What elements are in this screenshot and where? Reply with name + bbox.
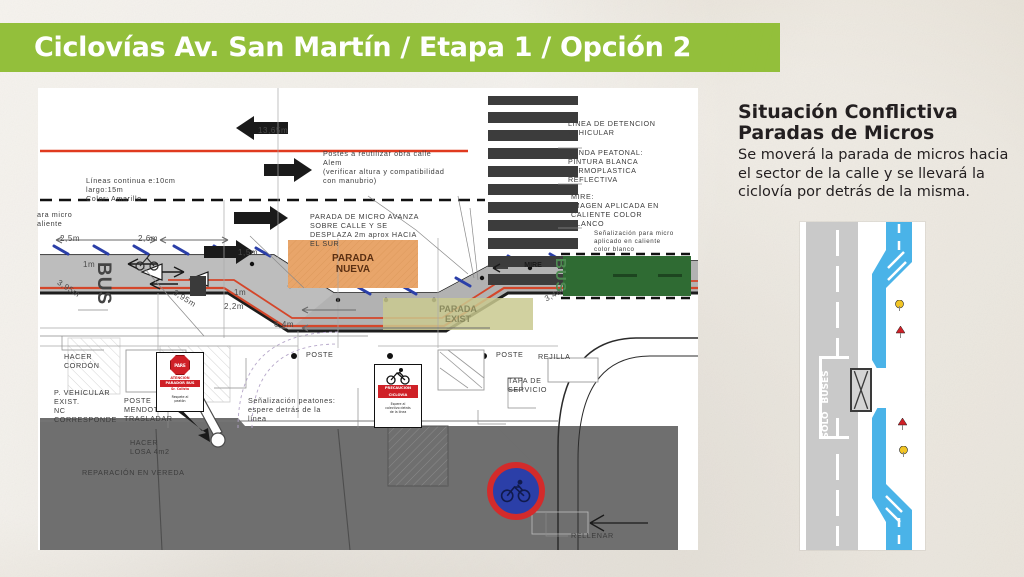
inset-bus-stop-platform [850, 368, 872, 412]
note-poste-1: POSTE [306, 350, 333, 359]
note-postes-reutilizar: Postes a reutilizar obra calle Alem (ver… [323, 149, 444, 185]
dim-6-4m: 6,4m [274, 320, 294, 329]
inset-triangle-sign-top [896, 326, 905, 338]
inset-lane-dash [836, 338, 839, 356]
page-title: Ciclovías Av. San Martín / Etapa 1 / Opc… [34, 30, 734, 66]
sign-line-respete: Respete al peatón [160, 395, 200, 403]
note-hacer-losa: HACER LOSA 4m2 [130, 438, 170, 456]
sign-line-sr-colista: Sr. Colista [160, 387, 200, 391]
inset-crosswalk-bar [891, 368, 895, 408]
sidebar-title: Situación Conflictiva Paradas de Micros [738, 102, 1013, 144]
inset-crosswalk-bar [875, 368, 879, 408]
sidebar-title-line2: Paradas de Micros [738, 123, 1013, 144]
sign-band-ciclovia: CICLOVIA [378, 392, 418, 399]
bicycle-icon [500, 479, 532, 503]
inset-crosswalk-bar [907, 368, 911, 408]
inset-lane-dash [836, 266, 839, 292]
dim-13-65m: 13,65m [258, 126, 288, 135]
sign-bicycle-circle [487, 462, 545, 520]
label-bus-green-word: BUS [552, 258, 569, 293]
note-rejilla: REJILLA [538, 352, 571, 361]
note-senda-peatonal: SENDA PEATONAL: PINTURA BLANCA TERMOPLAS… [568, 148, 643, 184]
inset-lane-dash [836, 302, 839, 328]
dim-2-2m: 2,2m [224, 302, 244, 311]
note-p-vehicular: P. VEHICULAR EXIST. NC CORRESPONDE [54, 388, 117, 424]
note-rellenar: RELLENAR [571, 531, 614, 540]
sign-sub-espere: Espere al colectivo detrás de la línea [378, 402, 418, 414]
dim-2-5m: 2,5m [60, 234, 80, 243]
label-bus-lane-word: BUS [92, 262, 114, 305]
note-para-micro: ara micro aliente [37, 210, 72, 228]
sidebar-title-line1: Situación Conflictiva [738, 102, 1013, 123]
dim-1-5m: 1,5m [238, 248, 258, 257]
note-senalizacion-micro: Señalización para micro aplicado en cali… [594, 230, 674, 254]
note-hacer-cordon: HACER CORDÓN [64, 352, 100, 370]
inset-warning-sign-bottom [899, 446, 908, 457]
inset-lane-dash [836, 454, 839, 480]
sign-parador-bus: PARE ATENCION PARADOR BUS Sr. Colista Re… [156, 352, 204, 412]
inset-lane-dash [836, 230, 839, 256]
inset-triangle-sign-bottom [898, 418, 907, 430]
note-lineas-continua: Líneas continua e:10cm largo:15m Color: … [86, 176, 176, 203]
note-reparacion-vereda: REPARACIÓN EN VEREDA [82, 468, 185, 477]
note-poste-2: POSTE [496, 350, 523, 359]
label-crosswalk-mire: MIRE [512, 262, 554, 269]
inset-crosswalk-bar [915, 368, 919, 408]
inset-lane-dash [836, 418, 839, 436]
label-parada-exist: PARADA EXIST [383, 298, 533, 330]
dim-1m-b: 1m [234, 288, 246, 297]
cyclist-icon [386, 367, 410, 385]
inset-bay-mark [819, 356, 849, 359]
inset-warning-sign-top [895, 300, 904, 311]
note-senalizacion-peatones: Señalización peatones: espere detrás de … [248, 396, 336, 423]
sign-line-parador-bus: PARADOR BUS [160, 380, 200, 387]
inset-lane-dash [836, 526, 839, 546]
sign-band-precaucion: PRECAUCION [378, 385, 418, 392]
drawing-sheet: 13,65m 2,5m 2,6m 1,5m 1m 1m 3,95m 3,95m … [38, 88, 698, 550]
sign-precaucion-ciclovia: PRECAUCION CICLOVIA Espere al colectivo … [374, 364, 422, 428]
octagon-pare: PARE [170, 355, 190, 375]
note-tapa-servicio: TAPA DE SERVICIO [508, 376, 547, 394]
sidebar-body-text: Se moverá la parada de micros hacia el s… [738, 146, 1010, 202]
label-parada-nueva: PARADA NUEVA [288, 240, 418, 288]
inset-crosswalk-bar [899, 368, 903, 408]
inset-situation-map: BUSES SOLO [800, 222, 925, 550]
inset-lane-dash [836, 490, 839, 516]
inset-bus-label-2: SOLO [821, 405, 831, 445]
note-mire: MIRE: IMAGEN APLICADA EN CALIENTE COLOR … [571, 192, 659, 228]
inset-crosswalk-bar [883, 368, 887, 408]
inset-crosswalk [872, 368, 919, 408]
note-linea-detencion: LINEA DE DETENCION VEHICULAR [568, 119, 655, 137]
inset-bus-label-1: BUSES [821, 367, 831, 407]
dim-2-6m: 2,6m [138, 234, 158, 243]
